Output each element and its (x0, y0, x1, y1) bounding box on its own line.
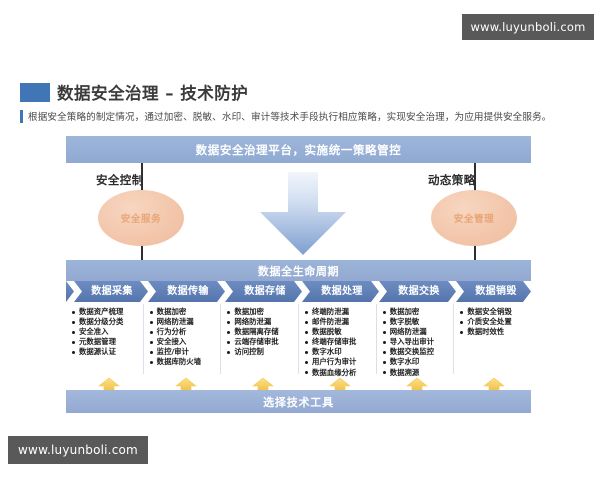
stage-label-0[interactable]: 数据采集 (80, 281, 144, 302)
bullet-dot-icon (305, 321, 308, 324)
list-item: 数据血缘分析 (303, 368, 374, 378)
list-item-label: 数据交换监控 (390, 347, 434, 357)
list-item: 介质安全处置 (458, 317, 529, 327)
list-item: 元数据管理 (70, 337, 141, 347)
diagram-panel: 数据安全治理平台，实施统一策略管控 安全控制 动态策略 安全服务 安全管理 (66, 136, 531, 411)
detail-column-5: 数据安全销毁介质安全处置数据时效性 (453, 304, 531, 374)
title-accent-bar (20, 83, 50, 102)
list-item: 网络防泄漏 (381, 327, 452, 337)
list-item: 数据加密 (148, 307, 219, 317)
right-side-label: 动态策略 (428, 172, 476, 188)
page-title: 数据安全治理 – 技术防护 (57, 80, 248, 104)
bullet-dot-icon (72, 331, 75, 334)
list-item-label: 安全接入 (157, 337, 187, 347)
list-item: 终端存储审批 (303, 337, 374, 347)
list-item: 安全接入 (148, 337, 219, 347)
list-item-label: 数据时效性 (467, 327, 504, 337)
list-item: 数据加密 (381, 307, 452, 317)
stage-label-4[interactable]: 数据交换 (387, 281, 451, 302)
bullet-dot-icon (305, 341, 308, 344)
list-item: 数据分级分类 (70, 317, 141, 327)
bullet-dot-icon (227, 321, 230, 324)
detail-column-3: 终端防泄漏邮件防泄漏数据脱敏终端存储审批数字水印用户行为审计数据血缘分析 (298, 304, 376, 374)
stage-label-2[interactable]: 数据存储 (233, 281, 297, 302)
bullet-dot-icon (150, 321, 153, 324)
bullet-dot-icon (383, 311, 386, 314)
bullet-dot-icon (150, 351, 153, 354)
bullet-dot-icon (305, 361, 308, 364)
stage-label-5[interactable]: 数据销毁 (464, 281, 528, 302)
bullet-dot-icon (72, 351, 75, 354)
bullet-dot-icon (227, 331, 230, 334)
bullet-dot-icon (383, 321, 386, 324)
list-item: 数据溯源 (381, 368, 452, 378)
list-item: 访问控制 (225, 347, 296, 357)
bullet-dot-icon (72, 341, 75, 344)
list-item: 行为分析 (148, 327, 219, 337)
list-item-label: 行为分析 (157, 327, 187, 337)
lifecycle-bar: 数据全生命周期 (66, 260, 531, 281)
bullet-dot-icon (383, 361, 386, 364)
list-item-label: 云端存储审批 (234, 337, 278, 347)
list-item: 终端防泄漏 (303, 307, 374, 317)
list-item-label: 网络防泄漏 (390, 327, 427, 337)
list-item-label: 终端存储审批 (312, 337, 356, 347)
bullet-dot-icon (150, 311, 153, 314)
stage-label-1[interactable]: 数据传输 (156, 281, 220, 302)
bullet-dot-icon (227, 311, 230, 314)
list-item-label: 数据库防火墙 (157, 357, 201, 367)
list-item: 云端存储审批 (225, 337, 296, 347)
security-management-label: 安全管理 (454, 211, 494, 225)
list-item: 网络防泄漏 (148, 317, 219, 327)
list-item-label: 数据脱敏 (312, 327, 342, 337)
list-item-label: 数据加密 (390, 307, 420, 317)
bullet-dot-icon (305, 311, 308, 314)
list-item-label: 用户行为审计 (312, 357, 356, 367)
list-item-label: 数据源认证 (79, 347, 116, 357)
detail-column-0: 数据资产梳理数据分级分类安全准入元数据管理数据源认证 (66, 304, 143, 374)
list-item: 数字水印 (303, 347, 374, 357)
bullet-dot-icon (383, 331, 386, 334)
list-item: 安全准入 (70, 327, 141, 337)
list-item-label: 数据安全销毁 (467, 307, 511, 317)
list-item-label: 数据隔离存储 (234, 327, 278, 337)
list-item: 数据隔离存储 (225, 327, 296, 337)
detail-column-2: 数据加密网络防泄漏数据隔离存储云端存储审批访问控制 (220, 304, 298, 374)
left-side-label: 安全控制 (96, 172, 144, 188)
list-item: 数据源认证 (70, 347, 141, 357)
bullet-dot-icon (460, 321, 463, 324)
list-item-label: 数据加密 (234, 307, 264, 317)
bullet-dot-icon (150, 341, 153, 344)
list-item-label: 网络防泄漏 (157, 317, 194, 327)
security-management-ellipse: 安全管理 (431, 190, 517, 246)
bullet-dot-icon (227, 341, 230, 344)
list-item: 数据时效性 (458, 327, 529, 337)
down-arrow-icon (259, 172, 347, 256)
bullet-dot-icon (305, 331, 308, 334)
platform-bar: 数据安全治理平台，实施统一策略管控 (66, 136, 531, 163)
bullet-dot-icon (305, 351, 308, 354)
detail-column-4: 数据加密数字脱敏网络防泄漏导入导出审计数据交换监控数字水印数据溯源 (376, 304, 454, 374)
list-item: 数字水印 (381, 357, 452, 367)
bullet-dot-icon (150, 331, 153, 334)
detail-column-1: 数据加密网络防泄漏行为分析安全接入监控/审计数据库防火墙 (143, 304, 221, 374)
list-item-label: 邮件防泄漏 (312, 317, 349, 327)
list-item-label: 终端防泄漏 (312, 307, 349, 317)
stage-detail-columns: 数据资产梳理数据分级分类安全准入元数据管理数据源认证数据加密网络防泄漏行为分析安… (66, 304, 531, 374)
list-item-label: 访问控制 (234, 347, 264, 357)
bullet-dot-icon (460, 331, 463, 334)
stage-label-3[interactable]: 数据处理 (310, 281, 374, 302)
list-item: 数据资产梳理 (70, 307, 141, 317)
bottom-bar: 选择技术工具 (66, 390, 531, 413)
list-item-label: 数据溯源 (390, 368, 420, 378)
stage-label-row: 数据采集 数据传输 数据存储 数据处理 数据交换 数据销毁 (66, 281, 531, 302)
list-item: 数据交换监控 (381, 347, 452, 357)
list-item-label: 数据分级分类 (79, 317, 123, 327)
list-item-label: 数据资产梳理 (79, 307, 123, 317)
watermark-bottom: www.luyunboli.com (8, 436, 148, 464)
list-item: 导入导出审计 (381, 337, 452, 347)
list-item-label: 数字脱敏 (390, 317, 420, 327)
bullet-dot-icon (305, 371, 308, 374)
list-item: 数据脱敏 (303, 327, 374, 337)
list-item-label: 数字水印 (390, 357, 420, 367)
list-item: 监控/审计 (148, 347, 219, 357)
bullet-dot-icon (227, 351, 230, 354)
list-item: 数据库防火墙 (148, 357, 219, 367)
slide-canvas: www.luyunboli.com www.luyunboli.com 数据安全… (0, 0, 600, 480)
list-item: 用户行为审计 (303, 357, 374, 367)
list-item-label: 数据血缘分析 (312, 368, 356, 378)
list-item: 数据安全销毁 (458, 307, 529, 317)
watermark-top: www.luyunboli.com (462, 14, 594, 40)
bullet-dot-icon (383, 341, 386, 344)
list-item-label: 网络防泄漏 (234, 317, 271, 327)
list-item-label: 介质安全处置 (467, 317, 511, 327)
bullet-dot-icon (150, 361, 153, 364)
bullet-dot-icon (460, 311, 463, 314)
security-service-label: 安全服务 (121, 211, 161, 225)
list-item-label: 导入导出审计 (390, 337, 434, 347)
list-item: 邮件防泄漏 (303, 317, 374, 327)
list-item-label: 数据加密 (157, 307, 187, 317)
list-item-label: 元数据管理 (79, 337, 116, 347)
list-item-label: 安全准入 (79, 327, 109, 337)
list-item: 网络防泄漏 (225, 317, 296, 327)
list-item: 数字脱敏 (381, 317, 452, 327)
subtitle-accent-bar (20, 110, 23, 123)
security-service-ellipse: 安全服务 (98, 190, 184, 246)
bullet-dot-icon (72, 321, 75, 324)
page-subtitle: 根据安全策略的制定情况，通过加密、脱敏、水印、审计等技术手段执行相应策略，实现安… (28, 109, 551, 123)
list-item-label: 监控/审计 (157, 347, 189, 357)
list-item: 数据加密 (225, 307, 296, 317)
bullet-dot-icon (383, 371, 386, 374)
list-item-label: 数字水印 (312, 347, 342, 357)
bullet-dot-icon (72, 311, 75, 314)
bullet-dot-icon (383, 351, 386, 354)
